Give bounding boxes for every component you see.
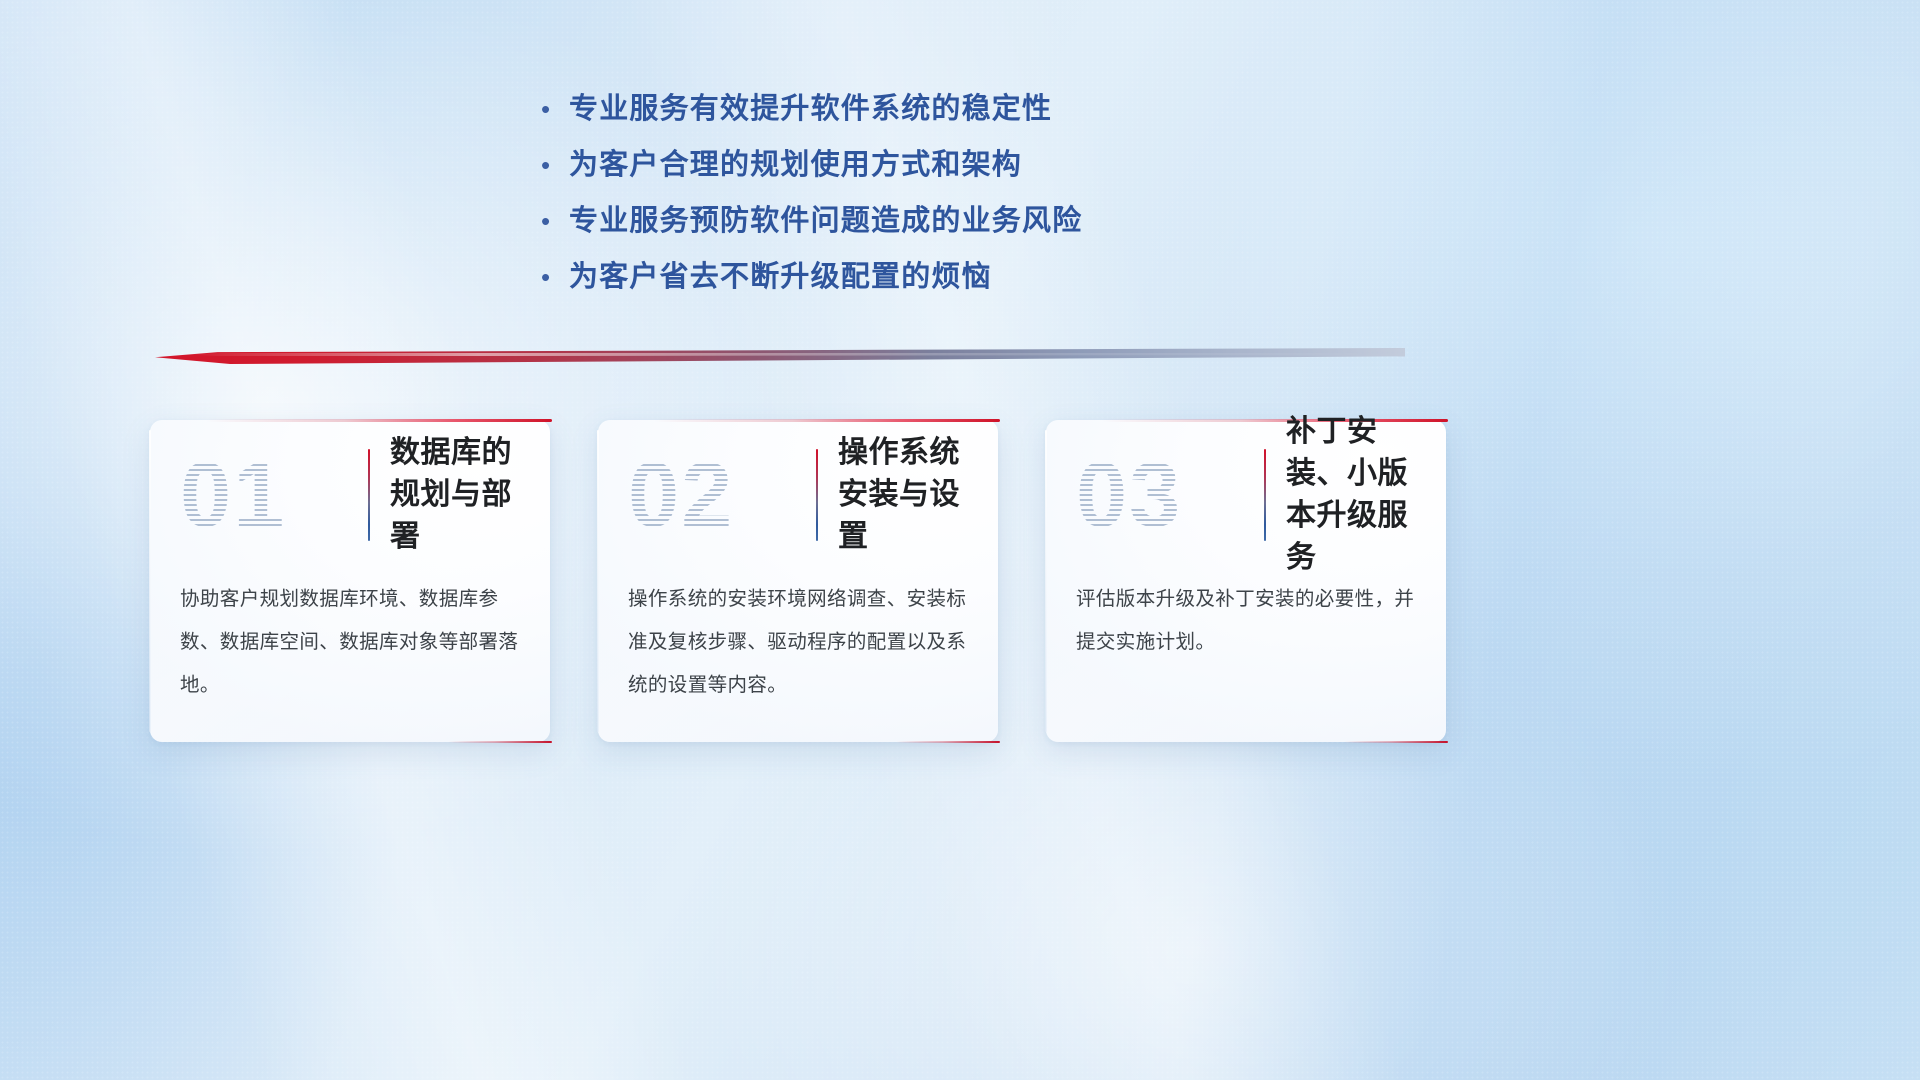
card-description: 协助客户规划数据库环境、数据库参数、数据库空间、数据库对象等部署落地。 (150, 570, 550, 707)
list-item: • 专业服务预防软件问题造成的业务风险 (535, 202, 1215, 240)
bullet-marker-icon: • (535, 208, 569, 234)
slide-canvas: • 专业服务有效提升软件系统的稳定性 • 为客户合理的规划使用方式和架构 • 专… (0, 0, 1920, 1080)
bullet-text: 专业服务预防软件问题造成的业务风险 (569, 202, 1082, 240)
service-card[interactable]: 02 操作系统安装与设置 操作系统的安装环境网络调查、安装标准及复核步骤、驱动程… (598, 420, 998, 742)
card-header: 01 数据库的规划与部署 (150, 420, 550, 570)
card-title: 操作系统安装与设置 (838, 432, 976, 558)
card-header: 03 补丁安装、小版本升级服务 (1046, 420, 1446, 570)
card-number: 02 (624, 449, 814, 541)
benefits-bullet-list: • 专业服务有效提升软件系统的稳定性 • 为客户合理的规划使用方式和架构 • 专… (535, 90, 1215, 314)
bullet-text: 为客户省去不断升级配置的烦恼 (569, 258, 992, 296)
card-divider-line (816, 449, 818, 541)
service-card[interactable]: 03 补丁安装、小版本升级服务 评估版本升级及补丁安装的必要性，并提交实施计划。 (1046, 420, 1446, 742)
card-number: 03 (1072, 449, 1262, 541)
card-description: 操作系统的安装环境网络调查、安装标准及复核步骤、驱动程序的配置以及系统的设置等内… (598, 570, 998, 707)
card-header: 02 操作系统安装与设置 (598, 420, 998, 570)
card-divider-line (368, 449, 370, 541)
bullet-marker-icon: • (535, 96, 569, 122)
bullet-text: 专业服务有效提升软件系统的稳定性 (569, 90, 1052, 128)
service-card-group: 01 数据库的规划与部署 协助客户规划数据库环境、数据库参数、数据库空间、数据库… (150, 420, 1446, 742)
card-title: 补丁安装、小版本升级服务 (1286, 411, 1424, 579)
list-item: • 为客户省去不断升级配置的烦恼 (535, 258, 1215, 296)
bullet-text: 为客户合理的规划使用方式和架构 (569, 146, 1022, 184)
card-accent-bottom (896, 741, 1000, 744)
list-item: • 专业服务有效提升软件系统的稳定性 (535, 90, 1215, 128)
service-card[interactable]: 01 数据库的规划与部署 协助客户规划数据库环境、数据库参数、数据库空间、数据库… (150, 420, 550, 742)
card-number: 01 (176, 449, 366, 541)
card-divider-line (1264, 449, 1266, 541)
section-divider (155, 348, 1405, 364)
card-description: 评估版本升级及补丁安装的必要性，并提交实施计划。 (1046, 570, 1446, 664)
bullet-marker-icon: • (535, 264, 569, 290)
card-title: 数据库的规划与部署 (390, 432, 528, 558)
card-accent-bottom (1344, 741, 1448, 744)
list-item: • 为客户合理的规划使用方式和架构 (535, 146, 1215, 184)
bullet-marker-icon: • (535, 152, 569, 178)
card-accent-bottom (448, 741, 552, 744)
